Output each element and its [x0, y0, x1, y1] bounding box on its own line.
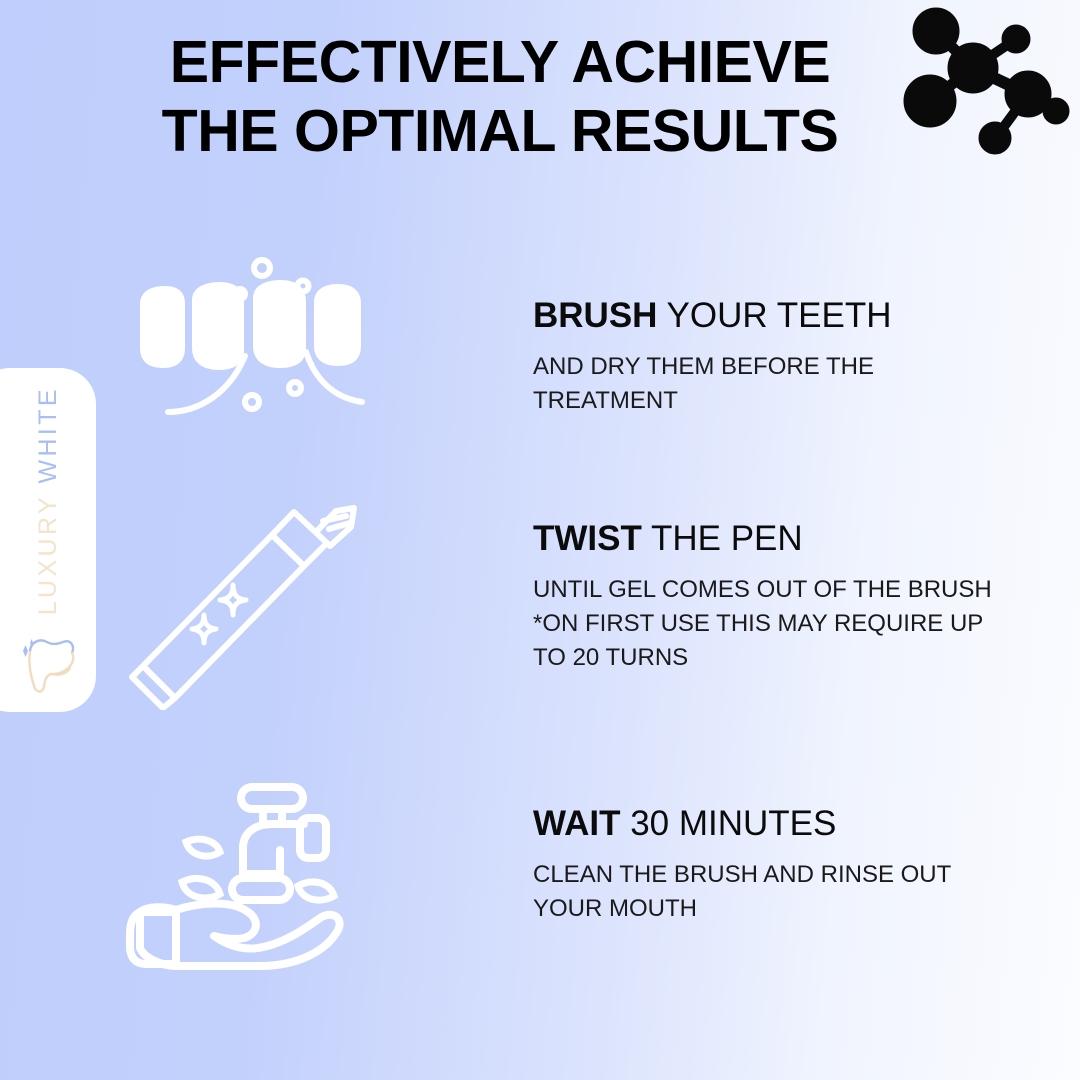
- step-twist-pen: TWIST THE PEN UNTIL GEL COMES OUT OF THE…: [120, 480, 1050, 710]
- step-3-desc-line-1: CLEAN THE BRUSH AND RINSE OUT: [533, 858, 1050, 892]
- brand-side-tab: LUXURY WHITE: [0, 368, 96, 712]
- tooth-logo: [17, 632, 79, 698]
- step-1-desc-line-1: AND DRY THEM BEFORE THE: [533, 350, 1050, 384]
- step-2-title-bold: TWIST: [533, 519, 642, 558]
- step-3-description: CLEAN THE BRUSH AND RINSE OUT YOUR MOUTH: [533, 858, 1050, 926]
- step-1-title-rest: YOUR TEETH: [657, 296, 891, 335]
- step-2-description: UNTIL GEL COMES OUT OF THE BRUSH *ON FIR…: [533, 573, 1050, 675]
- step-1-desc-line-2: TREATMENT: [533, 384, 1050, 418]
- step-2-desc-line-3: TO 20 TURNS: [533, 641, 1050, 675]
- hand-washing-faucet-icon: [120, 770, 385, 970]
- step-brush-teeth: BRUSH YOUR TEETH AND DRY THEM BEFORE THE…: [120, 252, 1050, 422]
- step-3-title: WAIT 30 MINUTES: [533, 805, 1050, 844]
- step-1-text: BRUSH YOUR TEETH AND DRY THEM BEFORE THE…: [385, 252, 1050, 418]
- step-3-title-rest: 30 MINUTES: [620, 804, 836, 843]
- molecule-icon: [898, 6, 1074, 170]
- step-2-text: TWIST THE PEN UNTIL GEL COMES OUT OF THE…: [385, 480, 1050, 675]
- step-wait-rinse: WAIT 30 MINUTES CLEAN THE BRUSH AND RINS…: [120, 770, 1050, 970]
- step-3-title-bold: WAIT: [533, 804, 620, 843]
- brand-word-luxury: LUXURY: [34, 494, 62, 615]
- step-2-title-rest: THE PEN: [642, 519, 803, 558]
- teeth-icon: [120, 252, 385, 422]
- step-1-description: AND DRY THEM BEFORE THE TREATMENT: [533, 350, 1050, 418]
- step-2-desc-line-1: UNTIL GEL COMES OUT OF THE BRUSH: [533, 573, 1050, 607]
- step-3-text: WAIT 30 MINUTES CLEAN THE BRUSH AND RINS…: [385, 770, 1050, 926]
- step-2-title: TWIST THE PEN: [533, 520, 1050, 559]
- brand-wordmark: LUXURY WHITE: [34, 386, 63, 615]
- step-3-desc-line-2: YOUR MOUTH: [533, 892, 1050, 926]
- step-1-title-bold: BRUSH: [533, 296, 657, 335]
- headline-line-1: EFFECTIVELY ACHIEVE: [0, 28, 1000, 97]
- step-1-title: BRUSH YOUR TEETH: [533, 297, 1050, 336]
- brand-word-white: WHITE: [34, 386, 62, 484]
- step-2-desc-line-2: *ON FIRST USE THIS MAY REQUIRE UP: [533, 607, 1050, 641]
- headline-line-2: THE OPTIMAL RESULTS: [0, 97, 1000, 166]
- whitening-pen-icon: [120, 480, 385, 710]
